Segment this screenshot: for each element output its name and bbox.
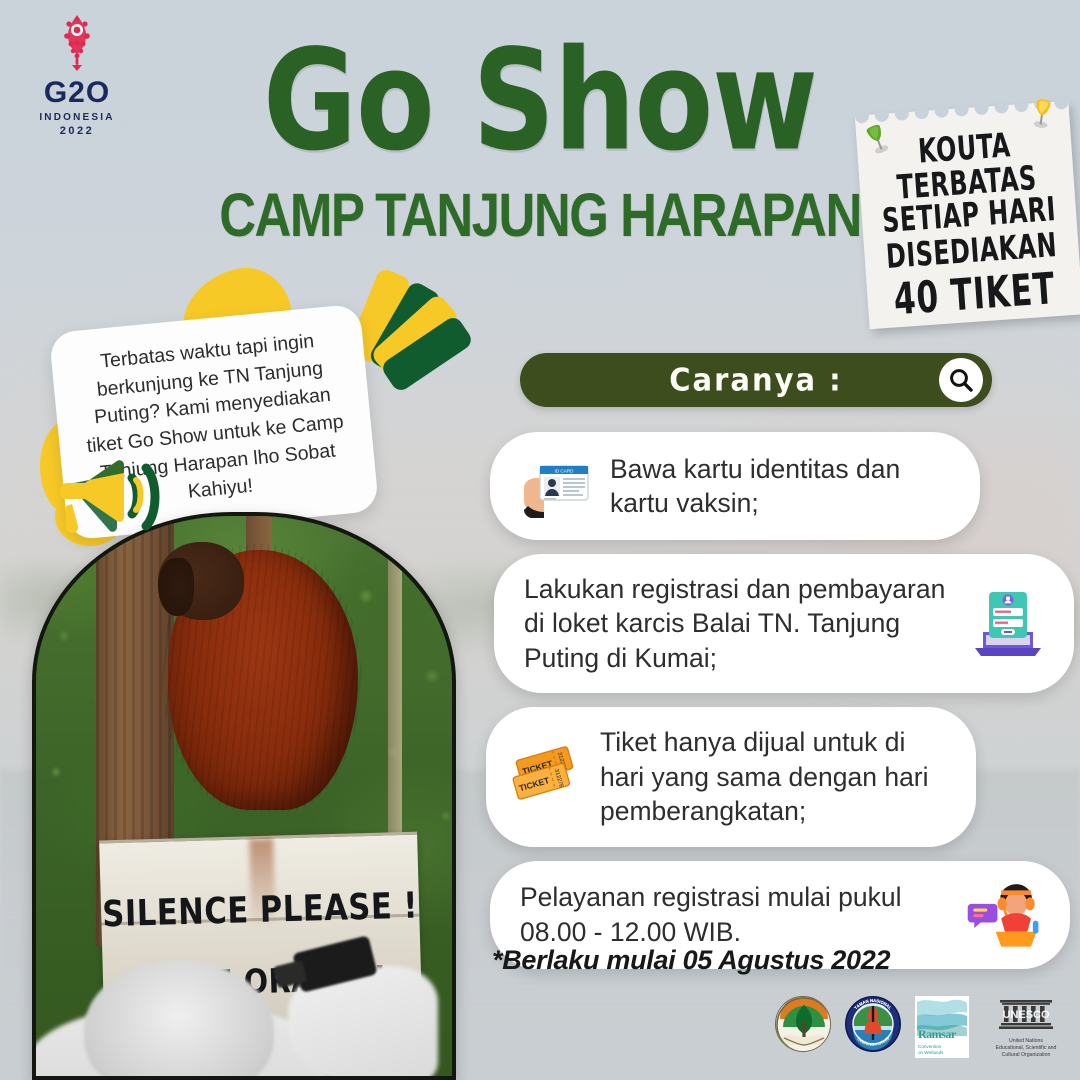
orangutan-photo: SILENCE PLEASE ! T THE ORANGU bbox=[32, 512, 456, 1080]
taman-nasional-tanjung-puting-logo: TAMAN NASIONAL TAMAN NASIONAL TANJUNG PU… bbox=[845, 996, 901, 1052]
partner-logos: TAMAN NASIONAL TAMAN NASIONAL TANJUNG PU… bbox=[775, 996, 1069, 1059]
ramsar-caption: Conventionon Wetlands bbox=[918, 1044, 943, 1056]
step-4-text: Pelayanan registrasi mulai pukul 08.00 -… bbox=[520, 880, 950, 949]
id-card-icon: ID CARD bbox=[516, 450, 596, 522]
customer-service-icon bbox=[964, 879, 1044, 951]
svg-text:ID CARD: ID CARD bbox=[555, 469, 575, 474]
step-card-3: TICKET 312276 TICKET 312276 Tiket hanya … bbox=[486, 707, 976, 846]
g20-year: 2022 bbox=[24, 125, 130, 137]
step-card-1: ID CARD Bawa kartu identitas dan kartu v… bbox=[490, 432, 980, 540]
svg-text:UNESCO: UNESCO bbox=[1002, 1009, 1050, 1021]
ramsar-emblem: Ramsar Conventionon Wetlands bbox=[915, 996, 969, 1058]
step-2-text: Lakukan registrasi dan pembayaran di lok… bbox=[524, 572, 954, 675]
megaphone-icon bbox=[52, 446, 172, 546]
sign-line-1: SILENCE PLEASE ! bbox=[97, 885, 422, 936]
klhk-emblem bbox=[775, 996, 831, 1052]
tntp-emblem: TAMAN NASIONAL TAMAN NASIONAL TANJUNG PU… bbox=[845, 996, 901, 1052]
ramsar-logo: Ramsar Conventionon Wetlands bbox=[915, 996, 969, 1058]
footnote: *Berlaku mulai 05 Agustus 2022 bbox=[492, 945, 890, 976]
g20-wordmark: G2O bbox=[24, 78, 130, 108]
g20-country: INDONESIA bbox=[24, 112, 130, 123]
magnifier-glyph bbox=[948, 367, 974, 393]
unesco-logo: UNESCO United NationsEducational, Scient… bbox=[983, 996, 1069, 1059]
caranya-header-bar: Caranya : bbox=[520, 353, 992, 407]
caranya-label: Caranya : bbox=[669, 362, 843, 398]
steps-list: ID CARD Bawa kartu identitas dan kartu v… bbox=[480, 432, 1080, 983]
ramsar-wordmark: Ramsar bbox=[918, 1027, 956, 1042]
search-icon[interactable] bbox=[939, 358, 983, 402]
photo-sapling bbox=[388, 516, 402, 846]
quota-notepad: KOUTA TERBATAS SETIAP HARI DISEDIAKAN 40… bbox=[855, 101, 1080, 329]
laptop-registration-icon bbox=[968, 588, 1048, 660]
step-1-text: Bawa kartu identitas dan kartu vaksin; bbox=[610, 452, 954, 521]
g20-indonesia-logo: G2O INDONESIA 2022 bbox=[24, 14, 130, 137]
notepad-line-4: 40 TIKET bbox=[882, 267, 1067, 325]
klhk-logo bbox=[775, 996, 831, 1052]
ticket-icon: TICKET 312276 TICKET 312276 bbox=[506, 741, 586, 813]
step-card-2: Lakukan registrasi dan pembayaran di lok… bbox=[494, 554, 1074, 693]
pushpin-yellow-icon bbox=[1027, 97, 1057, 130]
poster-canvas: G2O INDONESIA 2022 Go Show CAMP TANJUNG … bbox=[0, 0, 1080, 1080]
unesco-caption: United NationsEducational, Scientific an… bbox=[983, 1038, 1069, 1059]
orangutan-face bbox=[158, 558, 194, 616]
g20-batik-icon bbox=[44, 14, 110, 76]
step-3-text: Tiket hanya dijual untuk di hari yang sa… bbox=[600, 725, 950, 828]
unesco-temple-icon: UNESCO bbox=[996, 996, 1056, 1030]
